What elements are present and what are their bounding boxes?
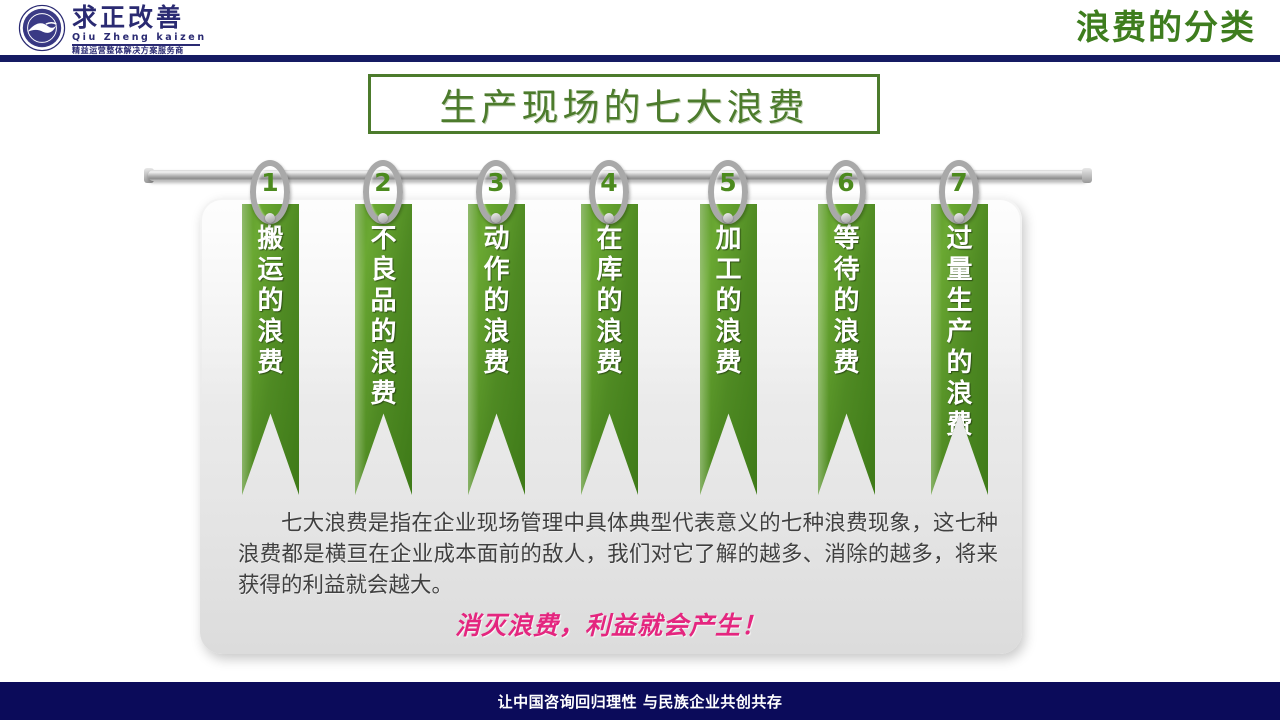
ribbon-char: 生 <box>931 286 988 317</box>
ribbon-char: 浪 <box>818 317 875 348</box>
ribbon-char: 费 <box>818 348 875 379</box>
ribbon-ring-6 <box>826 160 866 224</box>
ribbon-char: 作 <box>468 255 525 286</box>
logo-emblem-icon <box>18 4 66 52</box>
ribbon-label-5: 加工的浪费 <box>700 224 757 379</box>
ribbon-char: 浪 <box>931 379 988 410</box>
slide-title-box: 生产现场的七大浪费 <box>368 74 880 134</box>
ribbon-ring-7 <box>939 160 979 224</box>
ribbon-char: 的 <box>700 286 757 317</box>
company-logo: 求正改善 Qiu Zheng kaizen 精益运营整体解决方案服务商 <box>10 2 210 54</box>
ribbon-char: 费 <box>355 379 412 410</box>
header-divider <box>0 55 1280 62</box>
ribbon-label-1: 搬运的浪费 <box>242 224 299 379</box>
ribbon-char: 搬 <box>242 224 299 255</box>
ribbon-char: 量 <box>931 255 988 286</box>
ribbon-char: 费 <box>700 348 757 379</box>
ribbon-char: 待 <box>818 255 875 286</box>
ribbon-char: 工 <box>700 255 757 286</box>
ribbon-char: 不 <box>355 224 412 255</box>
ribbon-char: 费 <box>468 348 525 379</box>
bar-cap-right <box>1082 168 1092 183</box>
ribbon-char: 品 <box>355 286 412 317</box>
ribbon-ring-4 <box>589 160 629 224</box>
ribbon-char: 库 <box>581 255 638 286</box>
ribbon-char: 费 <box>581 348 638 379</box>
ribbon-char: 的 <box>468 286 525 317</box>
ribbon-char: 浪 <box>355 348 412 379</box>
ribbon-label-3: 动作的浪费 <box>468 224 525 379</box>
brand-name-cn: 求正改善 <box>72 4 184 31</box>
slide-title-text: 生产现场的七大浪费 <box>440 77 809 131</box>
ribbon-char: 费 <box>242 348 299 379</box>
ribbon-char: 的 <box>581 286 638 317</box>
ribbon-char: 的 <box>242 286 299 317</box>
ribbon-char: 过 <box>931 224 988 255</box>
ribbon-char: 的 <box>355 317 412 348</box>
ribbon-ring-3 <box>476 160 516 224</box>
ribbon-char: 等 <box>818 224 875 255</box>
ribbon-char: 浪 <box>242 317 299 348</box>
slide-section-title: 浪费的分类 <box>1076 6 1256 50</box>
ribbon-ring-5 <box>708 160 748 224</box>
ribbon-char: 良 <box>355 255 412 286</box>
ribbon-char: 的 <box>818 286 875 317</box>
ribbon-label-7: 过量生产的浪费 <box>931 224 988 441</box>
ribbon-char: 浪 <box>700 317 757 348</box>
page-footer: 让中国咨询回归理性 与民族企业共创共存 <box>0 682 1280 720</box>
ribbon-char: 浪 <box>581 317 638 348</box>
ribbon-ring-1 <box>250 160 290 224</box>
ribbon-label-2: 不良品的浪费 <box>355 224 412 410</box>
description-block: 七大浪费是指在企业现场管理中具体典型代表意义的七种浪费现象，这七种浪费都是横亘在… <box>238 508 998 601</box>
ribbon-char: 动 <box>468 224 525 255</box>
description-paragraph: 七大浪费是指在企业现场管理中具体典型代表意义的七种浪费现象，这七种浪费都是横亘在… <box>238 508 998 601</box>
ribbon-char: 在 <box>581 224 638 255</box>
brand-name-pinyin: Qiu Zheng kaizen <box>72 32 207 43</box>
slogan-text: 消灭浪费，利益就会产生！ <box>200 606 1022 642</box>
ribbon-char: 运 <box>242 255 299 286</box>
ribbon-char: 的 <box>931 348 988 379</box>
page-header: 求正改善 Qiu Zheng kaizen 精益运营整体解决方案服务商 浪费的分… <box>0 0 1280 62</box>
ribbon-label-4: 在库的浪费 <box>581 224 638 379</box>
ribbon-ring-2 <box>363 160 403 224</box>
ribbon-char: 加 <box>700 224 757 255</box>
ribbon-label-6: 等待的浪费 <box>818 224 875 379</box>
ribbon-char: 浪 <box>468 317 525 348</box>
ribbon-char: 产 <box>931 317 988 348</box>
footer-text: 让中国咨询回归理性 与民族企业共创共存 <box>498 691 783 712</box>
